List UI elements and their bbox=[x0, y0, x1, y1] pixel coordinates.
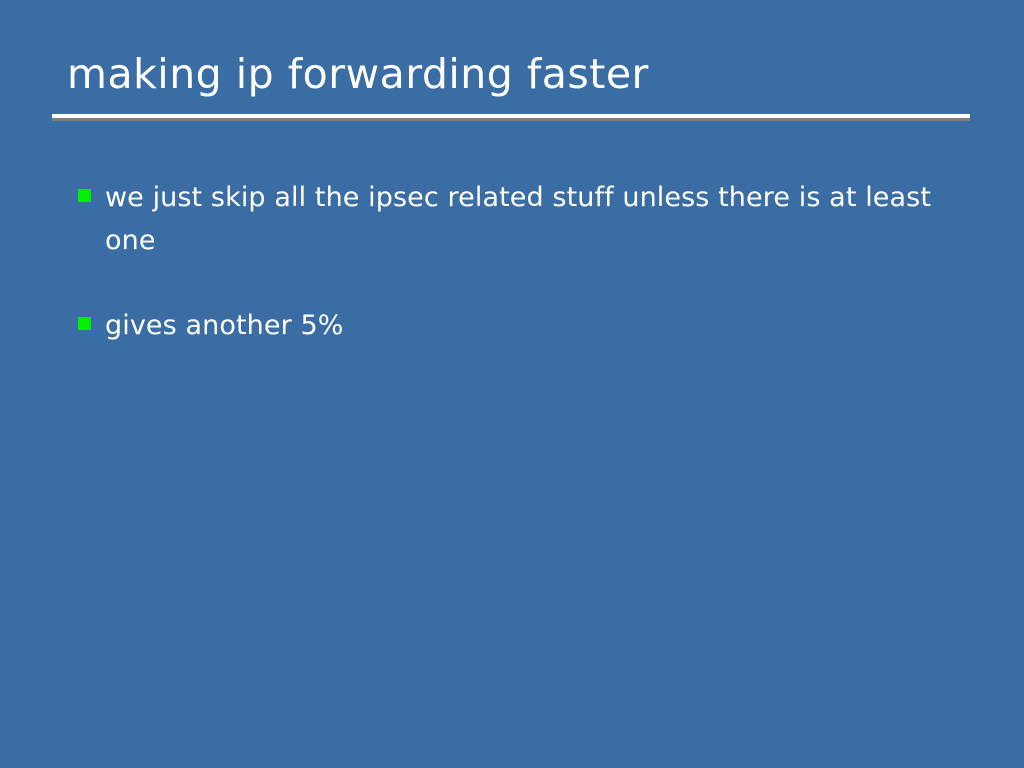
slide-title-block: making ip forwarding faster bbox=[52, 48, 970, 100]
bullet-list: we just skip all the ipsec related stuff… bbox=[78, 176, 938, 389]
presentation-slide: making ip forwarding faster we just skip… bbox=[0, 0, 1024, 768]
title-divider bbox=[52, 114, 970, 121]
list-item-label: gives another 5% bbox=[105, 304, 938, 347]
list-item: we just skip all the ipsec related stuff… bbox=[78, 176, 935, 262]
list-item-label: we just skip all the ipsec related stuff… bbox=[105, 176, 935, 262]
title-divider-shadow bbox=[52, 118, 970, 121]
page-title: making ip forwarding faster bbox=[52, 48, 970, 100]
green-square-bullet-icon bbox=[78, 189, 91, 202]
list-item: gives another 5% bbox=[78, 304, 938, 347]
green-square-bullet-icon bbox=[78, 317, 91, 330]
